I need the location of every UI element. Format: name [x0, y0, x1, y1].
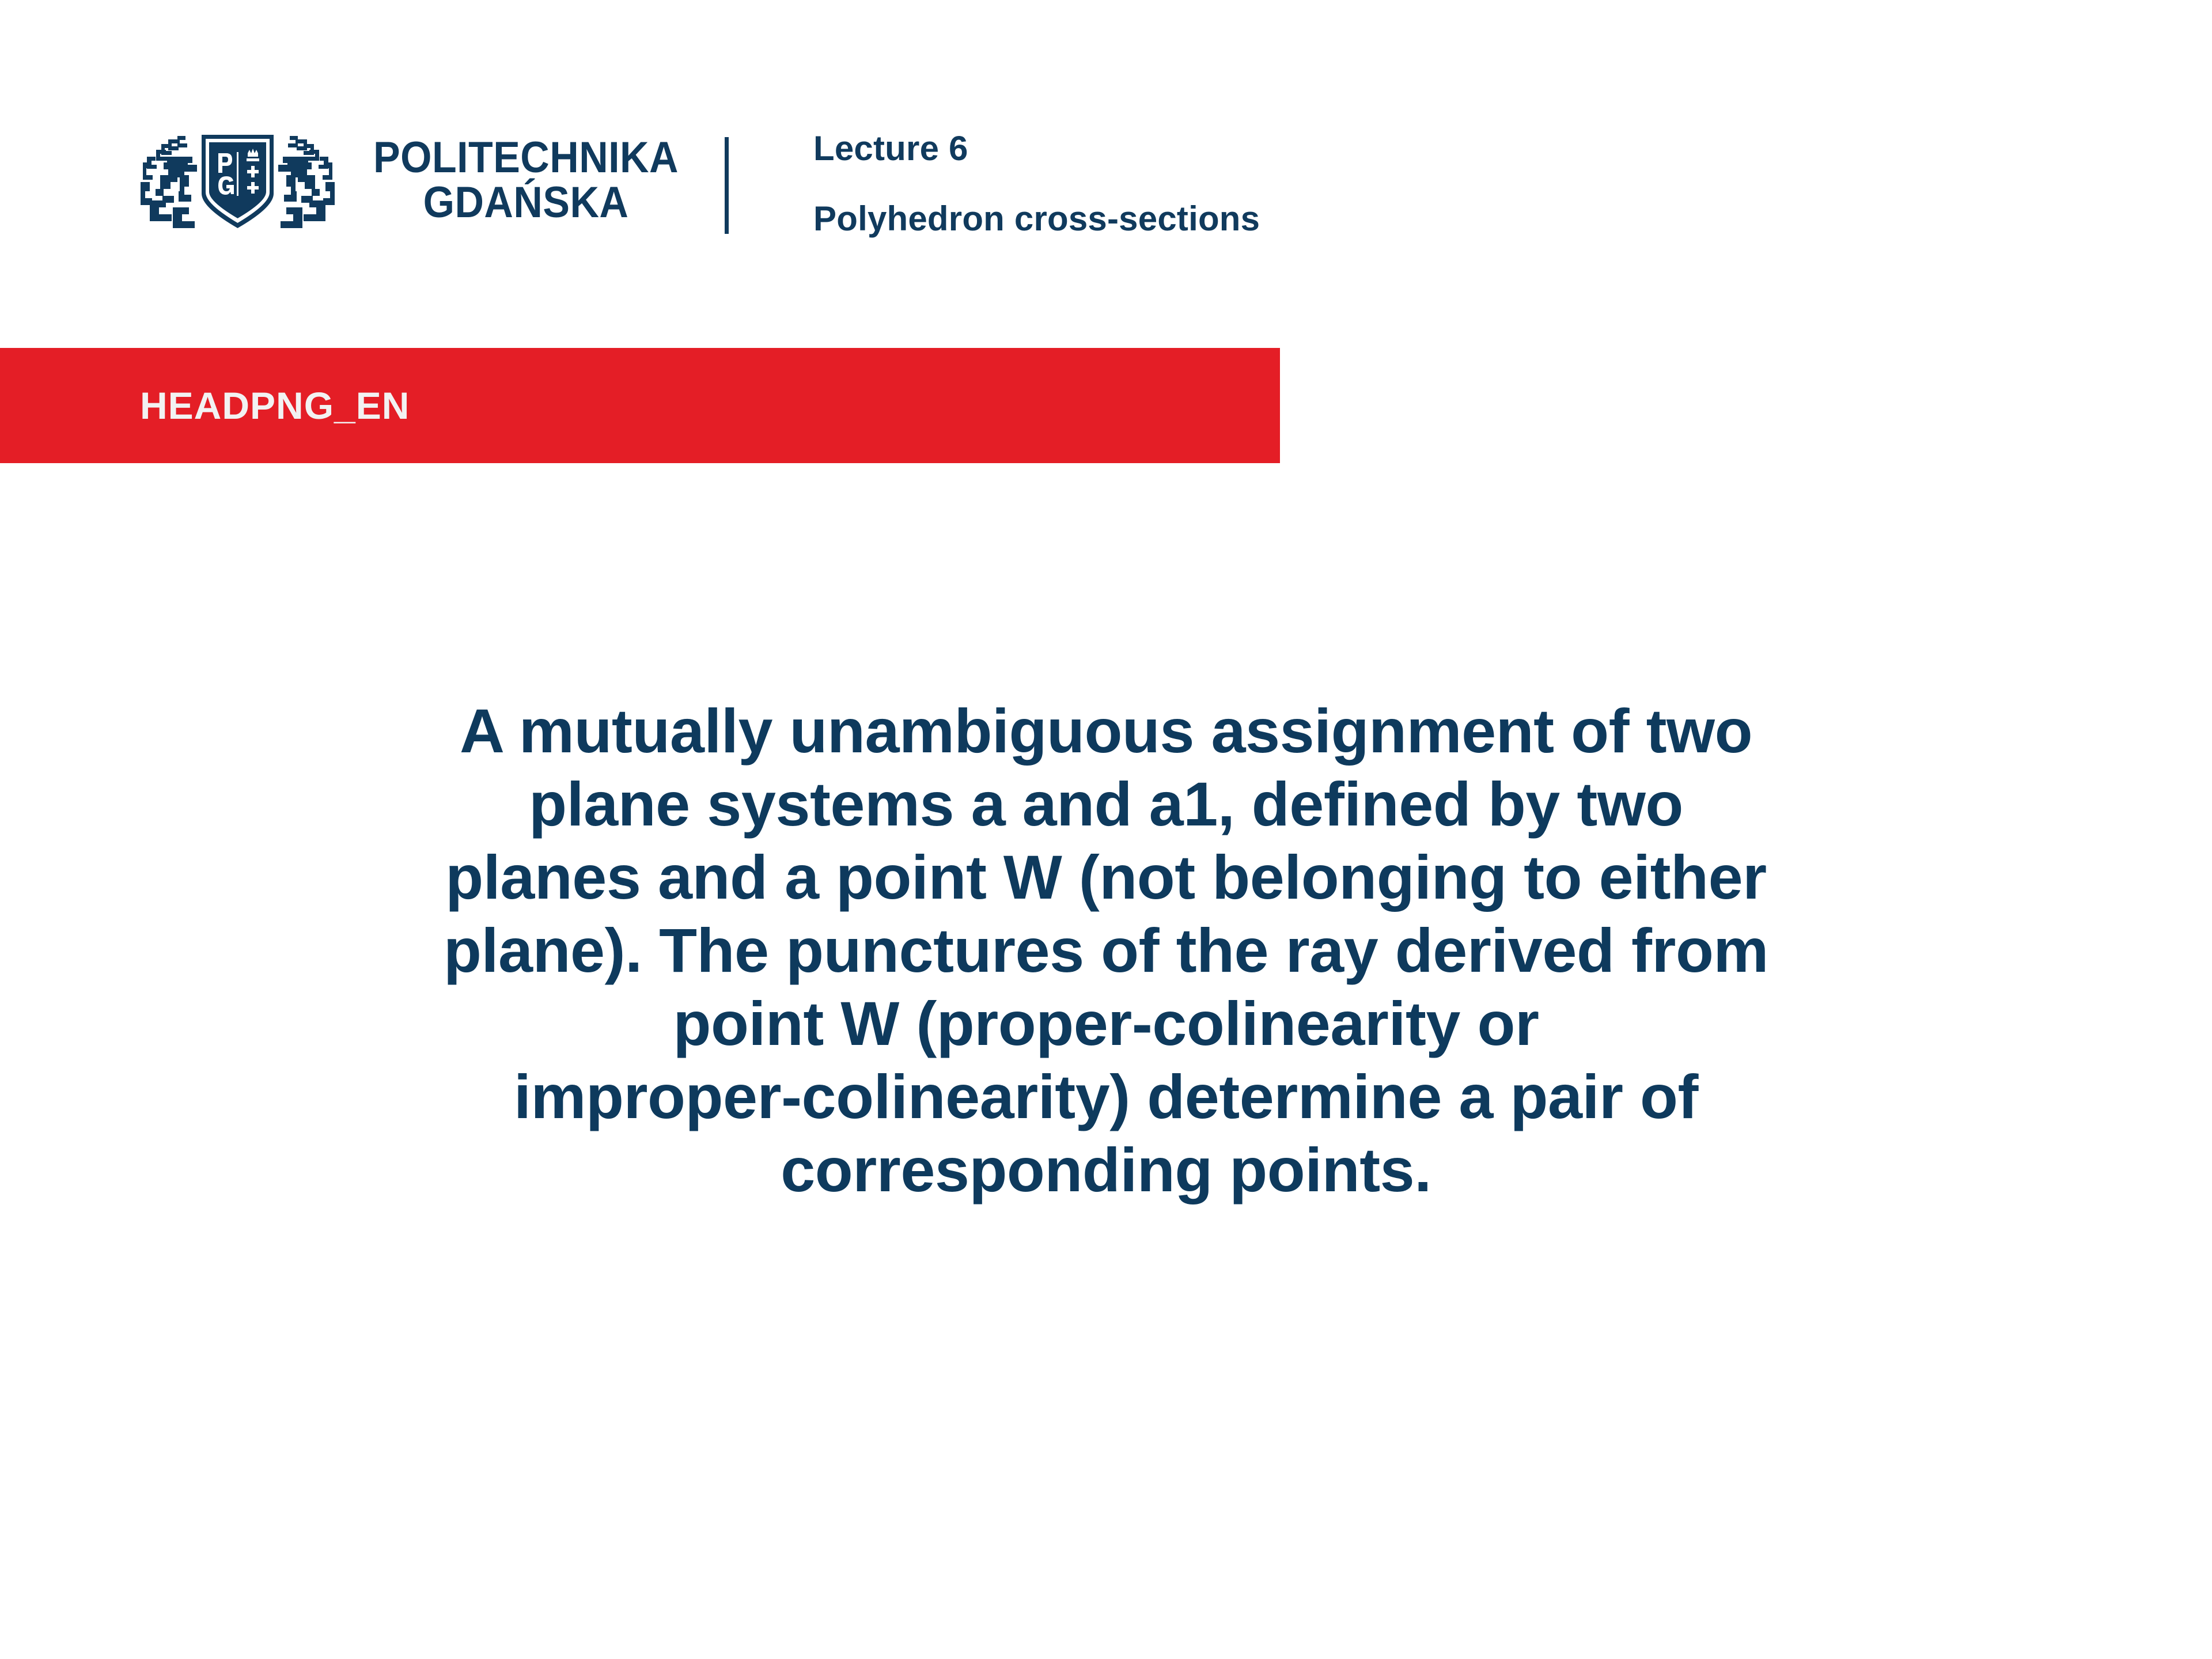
body-line: plane systems a and a1, defined by two	[161, 767, 2051, 840]
body-line: A mutually unambiguous assignment of two	[161, 694, 2051, 767]
wordmark-line-2: GDAŃSKA	[373, 180, 679, 225]
body-line: improper-colinearity) determine a pair o…	[161, 1060, 2051, 1133]
university-wordmark: POLITECHNIKA GDAŃSKA	[360, 135, 692, 225]
section-banner-label: HEADPNG_EN	[140, 384, 410, 427]
section-banner: HEADPNG_EN	[0, 348, 1280, 463]
header-vertical-divider	[725, 137, 729, 234]
slide-body-text: A mutually unambiguous assignment of two…	[161, 694, 2051, 1206]
body-line: corresponding points.	[161, 1133, 2051, 1206]
body-line: planes and a point W (not belonging to e…	[161, 840, 2051, 914]
lecture-number: Lecture 6	[813, 131, 1260, 166]
politechnika-gdanska-crest-icon	[132, 127, 343, 234]
university-brand-block: POLITECHNIKA GDAŃSKA	[132, 126, 692, 235]
body-line: point W (proper-colinearity or	[161, 987, 2051, 1060]
slide-header: POLITECHNIKA GDAŃSKA Lecture 6 Polyhedro…	[0, 0, 2212, 323]
lecture-title-block: Lecture 6 Polyhedron cross-sections	[813, 131, 1260, 236]
lecture-subject: Polyhedron cross-sections	[813, 202, 1260, 236]
body-line: plane). The punctures of the ray derived…	[161, 914, 2051, 987]
wordmark-line-1: POLITECHNIKA	[373, 135, 679, 180]
